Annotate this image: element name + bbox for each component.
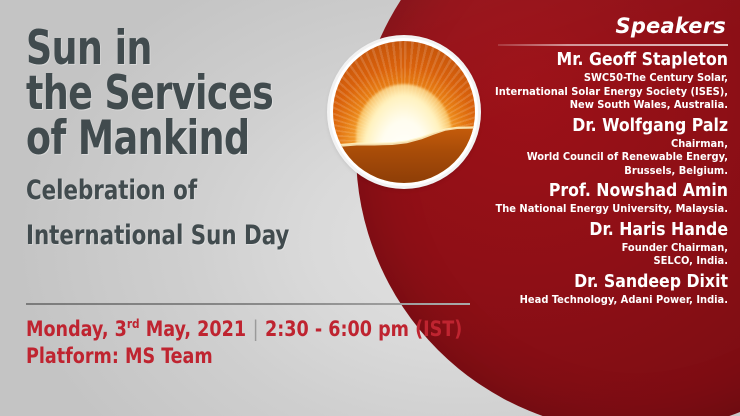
speaker-affiliation-line: Brussels, Belgium. — [484, 164, 728, 178]
speakers-divider — [498, 44, 728, 46]
title-block: Sun in the Services of Mankind Celebrati… — [26, 26, 356, 251]
event-date-ordinal: rd — [127, 316, 140, 331]
speaker-affiliation-line: World Council of Renewable Energy, — [484, 150, 728, 164]
speaker-entry: Dr. Sandeep Dixit Head Technology, Adani… — [484, 272, 728, 307]
speaker-name: Dr. Haris Hande — [484, 220, 728, 241]
event-details: Monday, 3rd May, 2021|2:30 - 6:00 pm (IS… — [26, 316, 496, 370]
speaker-affiliation-line: Head Technology, Adani Power, India. — [484, 293, 728, 307]
speaker-entry: Dr. Haris Hande Founder Chairman, SELCO,… — [484, 220, 728, 268]
event-poster: Sun in the Services of Mankind Celebrati… — [0, 0, 740, 416]
speaker-affiliation-line: SELCO, India. — [484, 254, 728, 268]
speaker-name: Mr. Geoff Stapleton — [484, 50, 728, 71]
speaker-entry: Mr. Geoff Stapleton SWC50-The Century So… — [484, 50, 728, 112]
speaker-affiliation-line: SWC50-The Century Solar, — [484, 71, 728, 85]
speaker-entry: Dr. Wolfgang Palz Chairman, World Counci… — [484, 116, 728, 178]
speaker-name: Dr. Wolfgang Palz — [484, 116, 728, 137]
speaker-affiliation-line: Founder Chairman, — [484, 241, 728, 255]
event-date-rest: May, 2021 — [140, 317, 246, 341]
event-datetime-line: Monday, 3rd May, 2021|2:30 - 6:00 pm (IS… — [26, 316, 463, 343]
headline-line-2: the Services — [26, 71, 310, 116]
speaker-affiliation-line: The National Energy University, Malaysia… — [484, 202, 728, 216]
speaker-affiliation-line: Chairman, — [484, 137, 728, 151]
speaker-entry: Prof. Nowshad Amin The National Energy U… — [484, 181, 728, 216]
speaker-name: Prof. Nowshad Amin — [484, 181, 728, 202]
datetime-separator: | — [246, 316, 265, 343]
speakers-panel: Speakers Mr. Geoff Stapleton SWC50-The C… — [484, 14, 728, 306]
speakers-heading: Speakers — [484, 14, 728, 39]
event-time: 2:30 - 6:00 pm (IST) — [265, 317, 462, 341]
headline-line-3: of Mankind — [26, 116, 310, 161]
event-date-day: Monday, 3 — [26, 317, 127, 341]
headline-line-1: Sun in — [26, 26, 310, 71]
subhead-line-2: International Sun Day — [26, 220, 316, 251]
speaker-name: Dr. Sandeep Dixit — [484, 272, 728, 293]
event-platform: Platform: MS Team — [26, 343, 463, 370]
section-divider — [26, 303, 470, 305]
speaker-affiliation-line: New South Wales, Australia. — [484, 98, 728, 112]
speaker-affiliation-line: International Solar Energy Society (ISES… — [484, 85, 728, 99]
subhead-line-1: Celebration of — [26, 175, 316, 206]
